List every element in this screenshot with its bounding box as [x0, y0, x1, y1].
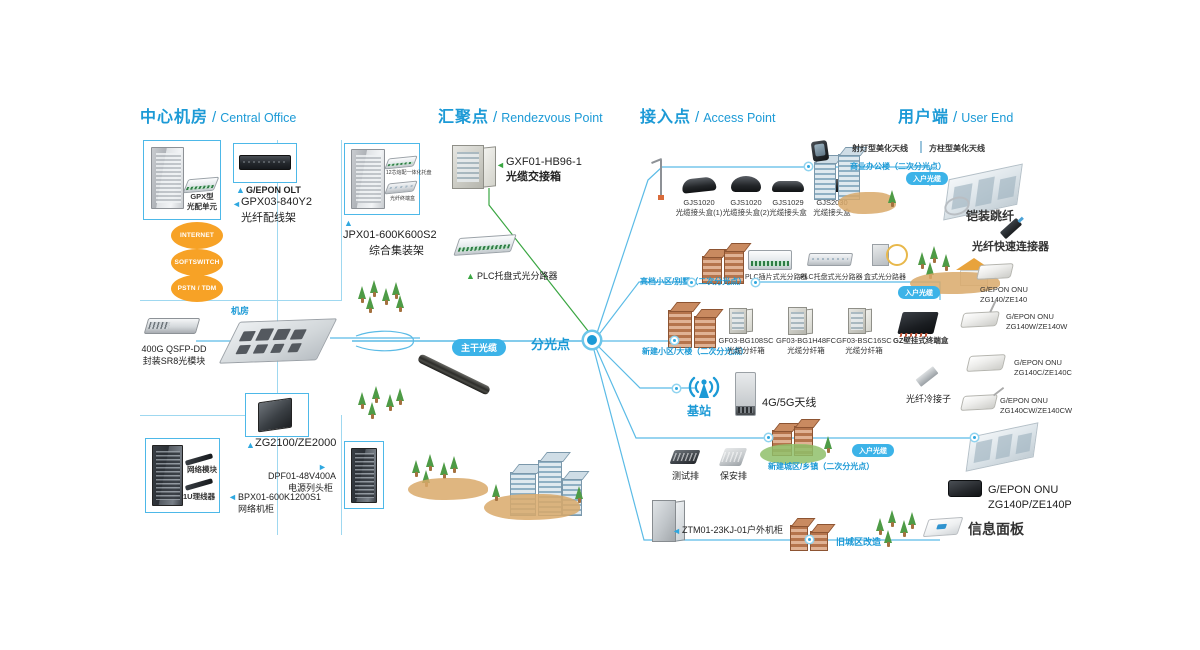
node-dot-commercial[interactable]: [805, 163, 812, 170]
column-divider-3: [341, 140, 342, 300]
pill-internet[interactable]: INTERNET: [171, 222, 223, 249]
arrow-up-icon: ▲: [466, 272, 475, 281]
node-dot-villa[interactable]: [688, 279, 695, 286]
row-divider-3: [277, 300, 342, 301]
machine-room-label: 机房: [231, 305, 249, 317]
power-name-label: 电源列头柜: [288, 482, 333, 494]
plc-blade-splitter-icon: [748, 250, 792, 270]
zg2100-device-icon: [258, 398, 292, 433]
onu-label-5: G/EPON ONUZG140P/ZE140P: [988, 483, 1072, 513]
label-divider: [920, 141, 922, 153]
section-header-access: 接入点/Access Point: [640, 103, 775, 127]
section-title-en: User End: [961, 111, 1013, 125]
qsfp-label: 400G QSFP-DD封装SR8光模块: [136, 343, 212, 367]
quick-connector-label: 光纤快速连接器: [972, 240, 1049, 255]
pill-pstn-tdm[interactable]: PSTN / TDM: [171, 275, 223, 302]
antenna-square-label: 方柱型美化天线: [929, 144, 985, 155]
odb-label-2: GF03-BG1H48FC光缆分纤箱: [772, 336, 840, 356]
wall-terminal-box-icon: [897, 312, 938, 334]
cable-manager-label: 1U理线器: [183, 492, 215, 502]
info-panel-label: 信息面板: [968, 520, 1024, 539]
oldcity-building-icon: [790, 515, 834, 553]
drop-cable-badge-1[interactable]: 入户光缆: [906, 172, 948, 185]
jpx-item1-label: 12芯熔配一体化托盘: [386, 170, 432, 177]
cross-connect-model-label: GXF01-HB96-1: [506, 155, 582, 170]
node-dot-newcity[interactable]: [765, 434, 772, 441]
fiber-coil-icon: [886, 244, 908, 266]
onu-icon-3: [966, 354, 1006, 372]
section-header-user-end: 用户端/User End: [898, 103, 1013, 127]
test-strip-icon: [669, 450, 700, 464]
odf-model-label: GPX03-840Y2: [241, 195, 312, 210]
jpx-rack-icon: [351, 149, 385, 209]
node-dot-base-station[interactable]: [673, 385, 680, 392]
jpx-item2-label: 光纤终端盒: [390, 196, 415, 203]
arrow-left-icon: ◄: [496, 161, 505, 170]
onu-label-4: G/EPON ONUZG140CW/ZE140CW: [1000, 396, 1072, 416]
section-title-en: Access Point: [703, 111, 775, 125]
drop-cable-badge-3[interactable]: 入户光缆: [852, 444, 894, 457]
cross-connect-name-label: 光缆交接箱: [506, 170, 561, 185]
base-station-icon: [686, 374, 722, 400]
armored-patch-label: 铠装跳纤: [966, 208, 1014, 224]
odb-icon-1: [729, 308, 747, 334]
cross-connect-cabinet-icon: [452, 145, 484, 189]
onu-icon-4: [960, 394, 998, 411]
section-title-cn: 汇聚点: [438, 109, 489, 126]
node-dot-new-estate[interactable]: [671, 337, 678, 344]
pole-icon: [660, 160, 662, 196]
arrow-up-icon: ▲: [246, 441, 255, 450]
onu-icon-1: [976, 263, 1014, 280]
column-divider-4: [341, 415, 342, 535]
odb-icon-2: [788, 307, 807, 335]
zg2100-label: ZG2100/ZE2000: [255, 436, 336, 451]
section-title-en: Rendezvous Point: [501, 111, 602, 125]
power-model-label: DPF01-48V400A: [268, 470, 336, 482]
node-dot-drop-1[interactable]: [752, 279, 759, 286]
trunk-cable-badge[interactable]: 主干光缆: [452, 339, 506, 356]
test-strip-label: 测试排: [672, 470, 699, 482]
section-title-cn: 用户端: [898, 109, 949, 126]
cabinet-name-label: 网络机柜: [238, 503, 274, 515]
section-title-en: Central Office: [220, 111, 296, 125]
scene-oldcity-label: 旧城区改造: [836, 536, 881, 548]
plc-tray-splitter-icon-2: [807, 253, 853, 266]
splitter-label-3: 盒式光分路器: [864, 273, 906, 282]
section-header-rendezvous: 汇聚点/Rendezvous Point: [438, 103, 603, 127]
arrow-left-icon: ◄: [672, 527, 681, 536]
odb-label-3: GF03-BSC16SC光缆分纤箱: [832, 336, 896, 356]
split-point-label: 分光点: [531, 336, 570, 354]
joint-closure-label-1: GJS1020光缆接头盒(1): [672, 198, 726, 218]
drop-cable-badge-2[interactable]: 入户光缆: [898, 286, 940, 299]
splitter-label-2: PLC托盘式光分路器: [800, 273, 863, 282]
section-title-cn: 接入点: [640, 109, 691, 126]
joint-closure-icon-2: [731, 176, 761, 192]
plc-tray-label: PLC托盘式光分路器: [477, 270, 558, 282]
security-strip-label: 保安排: [720, 470, 747, 482]
joint-closure-icon-3: [772, 181, 804, 192]
diagram-canvas: 中心机房/Central Office 汇聚点/Rendezvous Point…: [0, 0, 1200, 650]
onu-icon-5: [948, 480, 982, 497]
qsfp-module-icon: [144, 318, 201, 334]
antenna-panel-icon: [735, 372, 756, 416]
wall-terminal-label: GZ壁挂式终端盒: [893, 336, 948, 346]
jpx-model-label: JPX01-600K600S2: [343, 228, 437, 243]
arrow-up-icon: ▲: [344, 219, 353, 228]
onu-label-3: G/EPON ONUZG140C/ZE140C: [1014, 358, 1072, 378]
onu-icon-2: [960, 311, 1000, 328]
spotlight-antenna-icon: [811, 140, 830, 162]
section-title-cn: 中心机房: [140, 109, 208, 126]
base-station-label: 基站: [687, 403, 711, 419]
odf-name-label: 光纤配线架: [241, 211, 296, 226]
network-cabinet-icon: [152, 445, 183, 506]
pill-softswitch[interactable]: SOFTSWITCH: [171, 249, 223, 276]
scene-newcity-label: 新建城区/乡镇（二次分光点）: [768, 462, 874, 473]
arrow-left-icon: ◄: [232, 200, 241, 209]
node-dot-oldcity[interactable]: [806, 536, 813, 543]
onu-label-2: G/EPON ONUZG140W/ZE140W: [1006, 312, 1067, 332]
cold-splice-label: 光纤冷接子: [906, 393, 951, 405]
jpx-name-label: 综合集装架: [369, 244, 424, 259]
gpx-unit-label: GPX型光配单元: [180, 192, 224, 212]
antenna-spot-label: 射灯型美化天线: [852, 144, 908, 155]
dark-rack-icon: [351, 448, 377, 503]
split-point-hub[interactable]: [584, 332, 600, 348]
network-module-label: 网络模块: [187, 465, 217, 475]
odb-label-1: GF03-BG108SC光缆分纤箱: [714, 336, 778, 356]
outdoor-cabinet-label: ZTM01-23KJ-01户外机柜: [682, 524, 783, 536]
section-header-central-office: 中心机房/Central Office: [140, 103, 296, 127]
olt-device-icon: [239, 155, 291, 170]
arrow-up-icon: ▲: [236, 186, 245, 195]
odb-icon-3: [848, 308, 866, 334]
antenna-4g5g-label: 4G/5G天线: [762, 396, 816, 411]
node-dot-user-room[interactable]: [971, 434, 978, 441]
arrow-left-icon: ◄: [228, 493, 237, 502]
